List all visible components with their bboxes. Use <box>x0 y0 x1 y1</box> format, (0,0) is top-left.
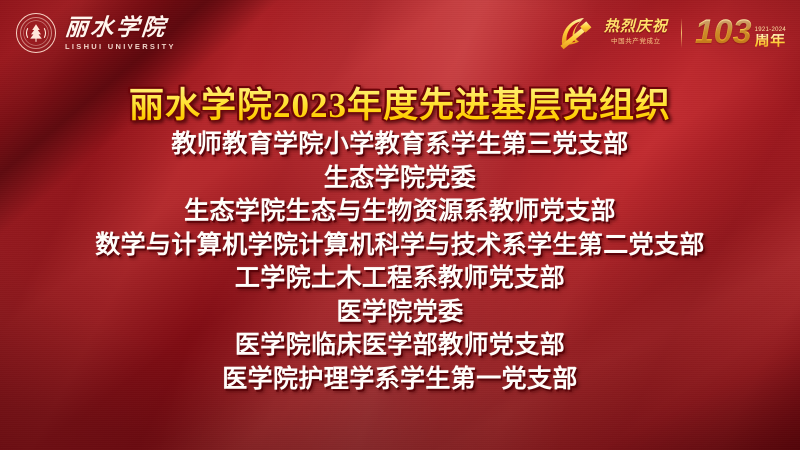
university-name-cn: 丽水学院 <box>64 16 177 39</box>
cpc-hammer-sickle-emblem-icon <box>555 14 595 52</box>
header-bar: 丽水学院 LISHUI UNIVERSITY <box>0 0 800 66</box>
page-title: 丽水学院2023年度先进基层党组织 <box>129 86 671 126</box>
list-item: 生态学院生态与生物资源系教师党支部 <box>0 195 800 229</box>
anniversary-unit: 周年 <box>755 34 786 49</box>
anniversary-slogan: 热烈庆祝 中国共产党成立 <box>604 20 668 46</box>
university-wordmark: 丽水学院 LISHUI UNIVERSITY <box>65 16 176 51</box>
university-logo-lockup: 丽水学院 LISHUI UNIVERSITY <box>16 13 176 53</box>
slide-root: 丽水学院 LISHUI UNIVERSITY <box>0 0 800 450</box>
list-item: 医学院护理学系学生第一党支部 <box>0 363 800 397</box>
list-item: 工学院土木工程系教师党支部 <box>0 262 800 296</box>
slogan-sub-text: 中国共产党成立 <box>611 39 661 46</box>
list-item: 生态学院党委 <box>0 162 800 196</box>
list-item: 教师教育学院小学教育系学生第三党支部 <box>0 128 800 162</box>
anniversary-lockup: 热烈庆祝 中国共产党成立 103 1921-2024 周年 <box>555 14 786 52</box>
anniversary-number: 103 <box>695 17 752 48</box>
list-item: 医学院临床医学部教师党支部 <box>0 329 800 363</box>
anniversary-number-tail: 1921-2024 周年 <box>755 27 786 49</box>
university-name-en: LISHUI UNIVERSITY <box>65 43 176 51</box>
anniversary-number-group: 103 1921-2024 周年 <box>695 17 786 48</box>
lishui-university-seal-icon <box>16 13 56 53</box>
honor-roll-list: 教师教育学院小学教育系学生第三党支部 生态学院党委 生态学院生态与生物资源系教师… <box>0 128 800 396</box>
anniversary-divider <box>681 18 682 48</box>
list-item: 数学与计算机学院计算机科学与技术系学生第二党支部 <box>0 229 800 263</box>
list-item: 医学院党委 <box>0 296 800 330</box>
slogan-main-text: 热烈庆祝 <box>604 20 668 35</box>
anniversary-years-range: 1921-2024 <box>755 27 786 33</box>
